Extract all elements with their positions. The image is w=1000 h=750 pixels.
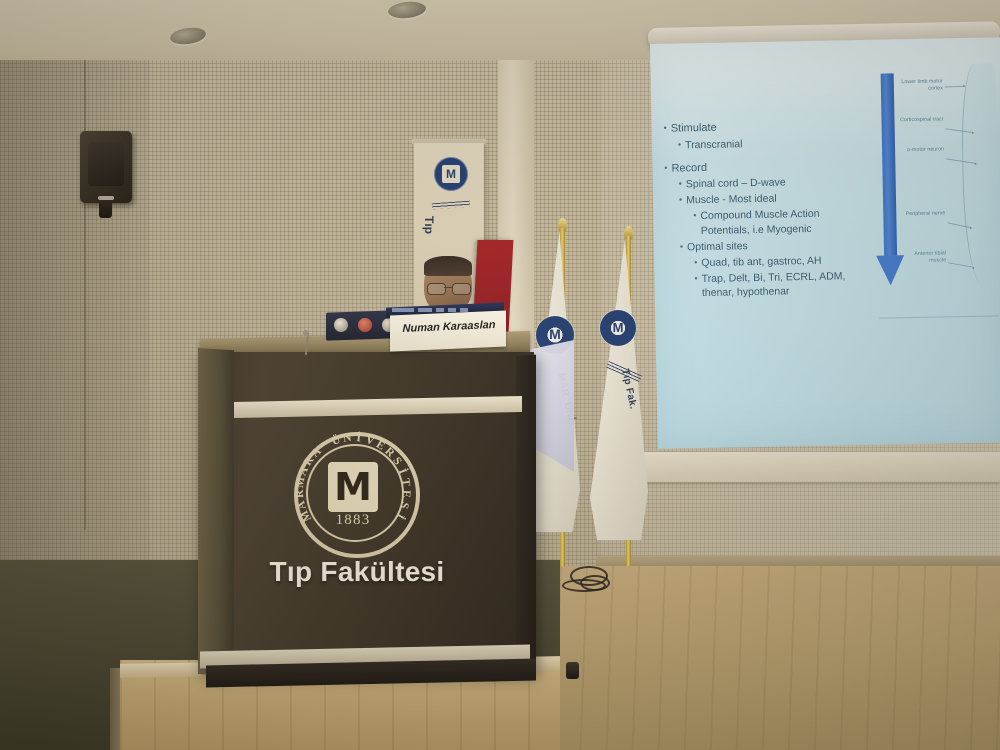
slide-bullet-list: •Stimulate •Transcranial •Record •Spinal… — [663, 118, 871, 303]
diagram-leader — [945, 86, 963, 87]
microphone-icon — [303, 330, 309, 336]
laptop-screen-reflection — [448, 308, 456, 312]
marmara-logo-mark: M — [330, 467, 376, 507]
diagram-label: Lower limb motor cortex — [897, 78, 943, 92]
diagram-label: Peripheral nerve — [899, 210, 945, 217]
marmara-logo-mark: M — [444, 168, 458, 180]
seal-ring-char: İ — [356, 432, 362, 444]
diagram-leader-dot — [972, 267, 974, 269]
laptop-screen-reflection — [392, 308, 414, 312]
marmara-logo-mark: M — [610, 320, 626, 336]
slide-bullet: •Trap, Delt, Bi, Tri, ECRL, ADM, thenar,… — [694, 268, 872, 301]
floor-cable — [562, 579, 606, 592]
seal-ring-char: R — [294, 489, 306, 498]
seal-ring-char: N — [342, 432, 352, 445]
podium-left-panel — [198, 348, 234, 676]
laptop-screen-reflection — [418, 308, 432, 312]
body-outline — [960, 63, 999, 284]
bullet-dot-icon: • — [694, 272, 697, 285]
diagram-label: α-motor neuron — [898, 146, 944, 153]
eyeglasses-bridge — [444, 287, 452, 288]
diagram-label: Corticospinal tract — [897, 116, 943, 123]
control-button[interactable] — [334, 318, 348, 332]
control-button[interactable] — [358, 318, 372, 332]
bullet-dot-icon: • — [679, 178, 682, 191]
diagram-baseline — [879, 315, 999, 318]
banner-label: Tıp — [422, 216, 436, 246]
bullet-dot-icon: • — [678, 138, 681, 151]
bullet-dot-icon: • — [679, 193, 682, 206]
bullet-dot-icon: • — [693, 209, 696, 222]
speaker-person-hair — [424, 256, 472, 276]
diagram-label: Anterior tibial muscle — [896, 250, 946, 264]
slide-bullet-text: Compound Muscle Action Potentials, i.e M… — [700, 206, 870, 239]
diagram-leader-dot — [974, 163, 976, 165]
diagram-leader-dot — [972, 132, 974, 134]
bullet-dot-icon: • — [694, 256, 697, 269]
lecture-hall-photo: •Stimulate •Transcranial •Record •Spinal… — [0, 0, 1000, 750]
slide-bullet: •Compound Muscle Action Potentials, i.e … — [693, 206, 871, 239]
bullet-dot-icon: • — [663, 122, 666, 135]
marmara-logo-mark: M — [547, 326, 563, 342]
diagram-leader — [948, 262, 972, 267]
slide-anatomy-diagram: Lower limb motor cortex Corticospinal tr… — [868, 53, 1000, 355]
podium-caster-wheel — [566, 662, 579, 679]
bullet-dot-icon: • — [664, 161, 667, 174]
floor-wood-grain — [560, 566, 1000, 750]
eyeglasses-icon — [427, 283, 446, 295]
podium-title: Tıp Fakültesi — [252, 556, 462, 588]
eyeglasses-icon — [452, 283, 471, 295]
bullet-dot-icon: • — [680, 240, 683, 253]
diagram-leader-dot — [970, 227, 972, 229]
marmara-seal-year: 1883 — [316, 512, 390, 529]
laptop-screen-reflection — [436, 308, 444, 312]
downward-arrow-icon — [881, 73, 898, 258]
wall-rail — [600, 452, 1000, 482]
diagram-leader-dot — [963, 85, 965, 87]
loudspeaker-mount — [99, 201, 112, 218]
loudspeaker-led-icon — [98, 196, 114, 200]
slide-bullet-text: Trap, Delt, Bi, Tri, ECRL, ADM, thenar, … — [702, 268, 872, 301]
loudspeaker-cone-icon — [88, 142, 124, 186]
projection-screen: •Stimulate •Transcranial •Record •Spinal… — [650, 37, 1000, 449]
